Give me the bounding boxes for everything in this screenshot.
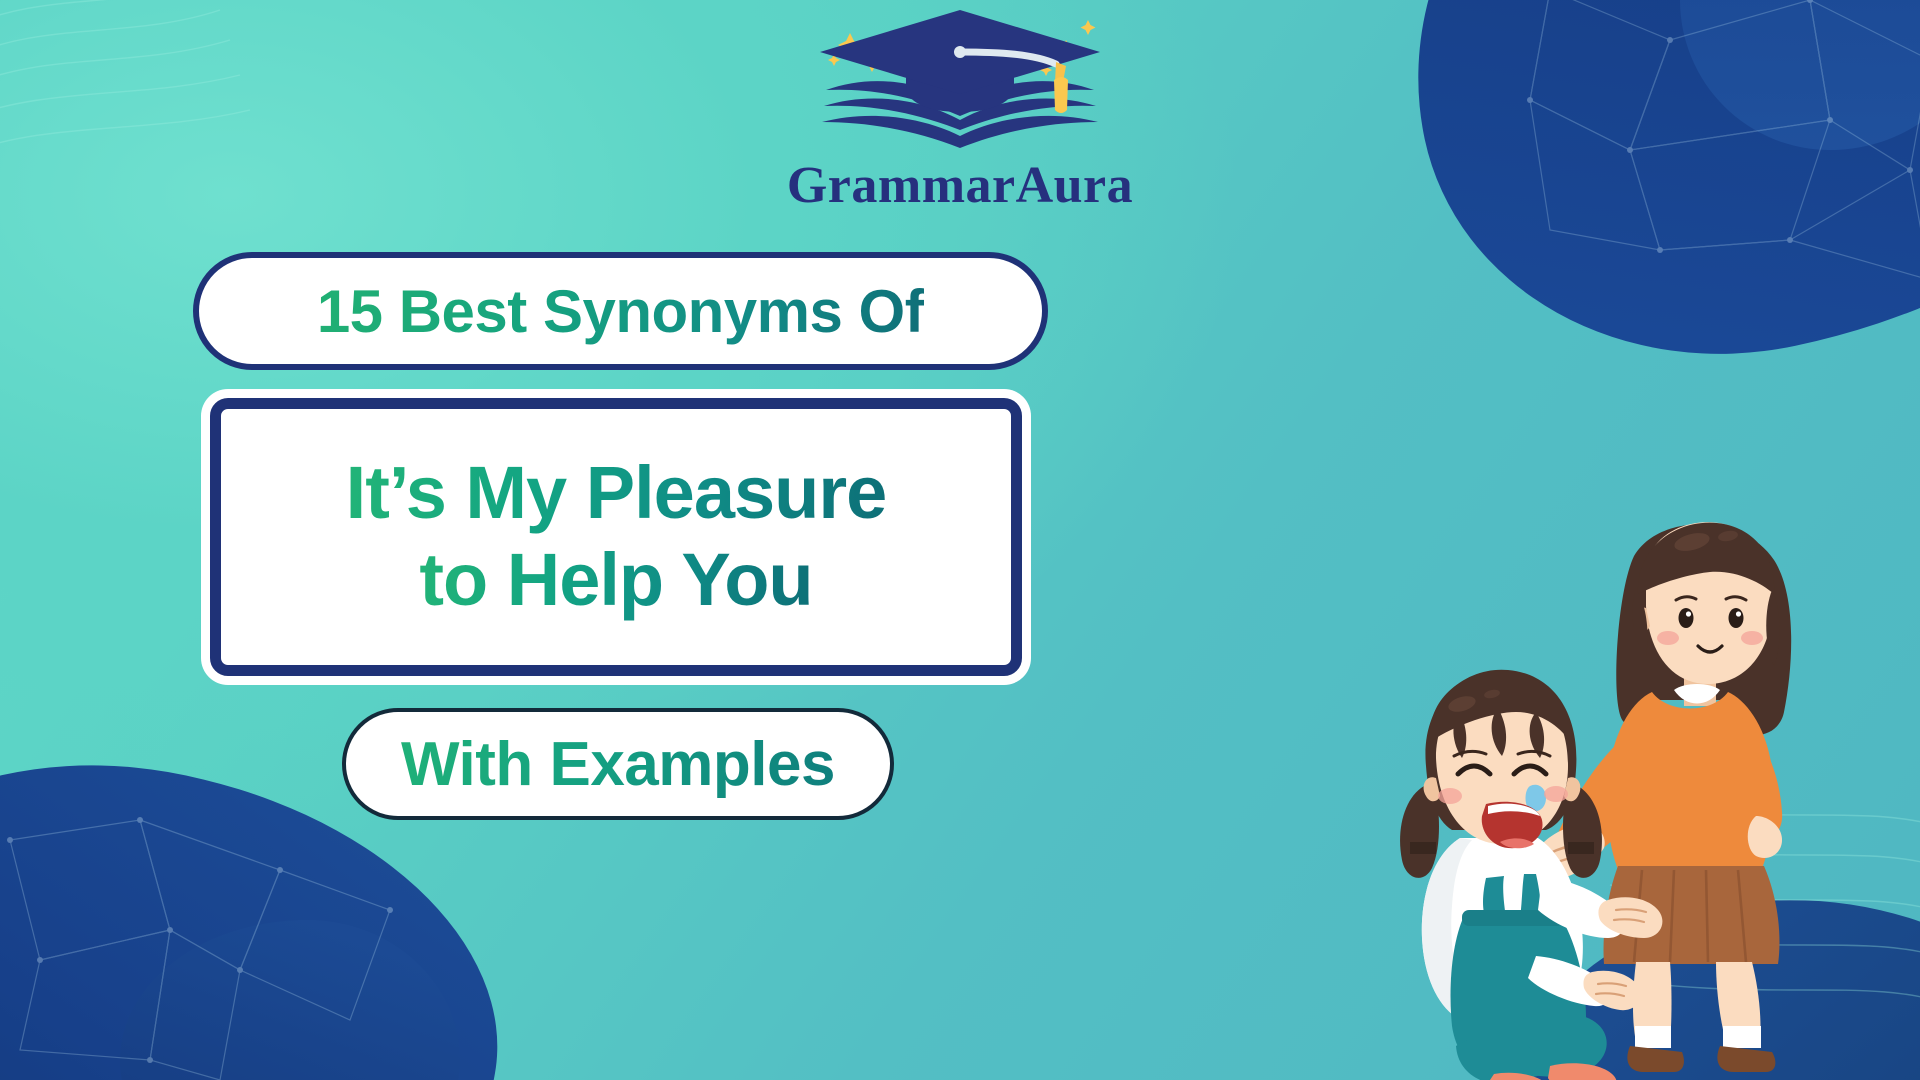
footnote-text: With Examples [401, 729, 835, 800]
brand-logo-block: GrammarAura [0, 8, 1920, 212]
crying-child-right-sandal [1548, 1063, 1617, 1080]
crying-child-tear-left [1488, 803, 1510, 832]
crying-child-right-pigtail [1563, 786, 1602, 878]
helping-girl-left-eye [1679, 608, 1694, 628]
crying-child-right-eye [1514, 766, 1546, 774]
eyebrow-text: 15 Best Synonyms Of [317, 277, 924, 346]
helping-girl-figure [1533, 522, 1791, 1072]
helping-girl-left-hand [1533, 823, 1605, 880]
crying-child-left-arm [1528, 956, 1610, 1006]
decorative-blob-bottom-left-small [120, 920, 460, 1080]
crying-child-bangs [1430, 672, 1572, 744]
footnote-pill: With Examples [342, 708, 894, 820]
helping-girl-sweater [1607, 692, 1774, 878]
helping-girl-bangs [1638, 523, 1774, 594]
brand-name: GrammarAura [787, 160, 1133, 212]
main-title-line-1: It’s My Pleasure [346, 450, 887, 537]
helping-girl-left-shoe [1627, 1046, 1684, 1072]
crying-child-left-sandal [1490, 1073, 1550, 1080]
crying-child-right-hand [1598, 897, 1662, 938]
crying-child-left-pigtail [1400, 786, 1439, 878]
helping-girl-right-eye [1729, 608, 1744, 628]
crying-child-right-arm [1538, 878, 1624, 938]
decorative-mesh-bottom-right [1570, 790, 1920, 1080]
crying-child-tear-right [1526, 785, 1547, 812]
crying-child-mouth [1482, 802, 1543, 848]
crying-child-figure [1400, 670, 1662, 1080]
crying-child-overalls [1451, 916, 1587, 1079]
helping-girl-smile [1698, 646, 1722, 652]
helping-girl-right-shoe [1717, 1046, 1775, 1072]
main-title-box: It’s My Pleasure to Help You [210, 398, 1022, 676]
poster-canvas: GrammarAura 15 Best Synonyms Of It’s My … [0, 0, 1920, 1080]
crying-child-face [1436, 684, 1568, 844]
helping-girl-face [1646, 522, 1772, 684]
crying-child-left-hand [1583, 971, 1640, 1010]
main-title-line-2: to Help You [419, 537, 812, 624]
helping-girl-skirt [1604, 866, 1780, 964]
children-illustration [1390, 486, 1910, 1080]
helping-girl-hair-back [1616, 524, 1791, 735]
crying-child-left-eye [1458, 766, 1490, 774]
decorative-blob-bottom-right [1480, 900, 1920, 1080]
helping-girl-right-arm [1730, 718, 1782, 837]
helping-girl-right-hand [1748, 816, 1782, 858]
decorative-mesh-bottom-left [0, 800, 410, 1080]
graduation-cap-over-open-book-icon [810, 8, 1110, 158]
crying-child-hair-back [1425, 670, 1576, 830]
crying-child-shirt [1422, 838, 1583, 1022]
helping-girl-left-arm [1553, 736, 1652, 865]
eyebrow-pill: 15 Best Synonyms Of [193, 252, 1048, 370]
